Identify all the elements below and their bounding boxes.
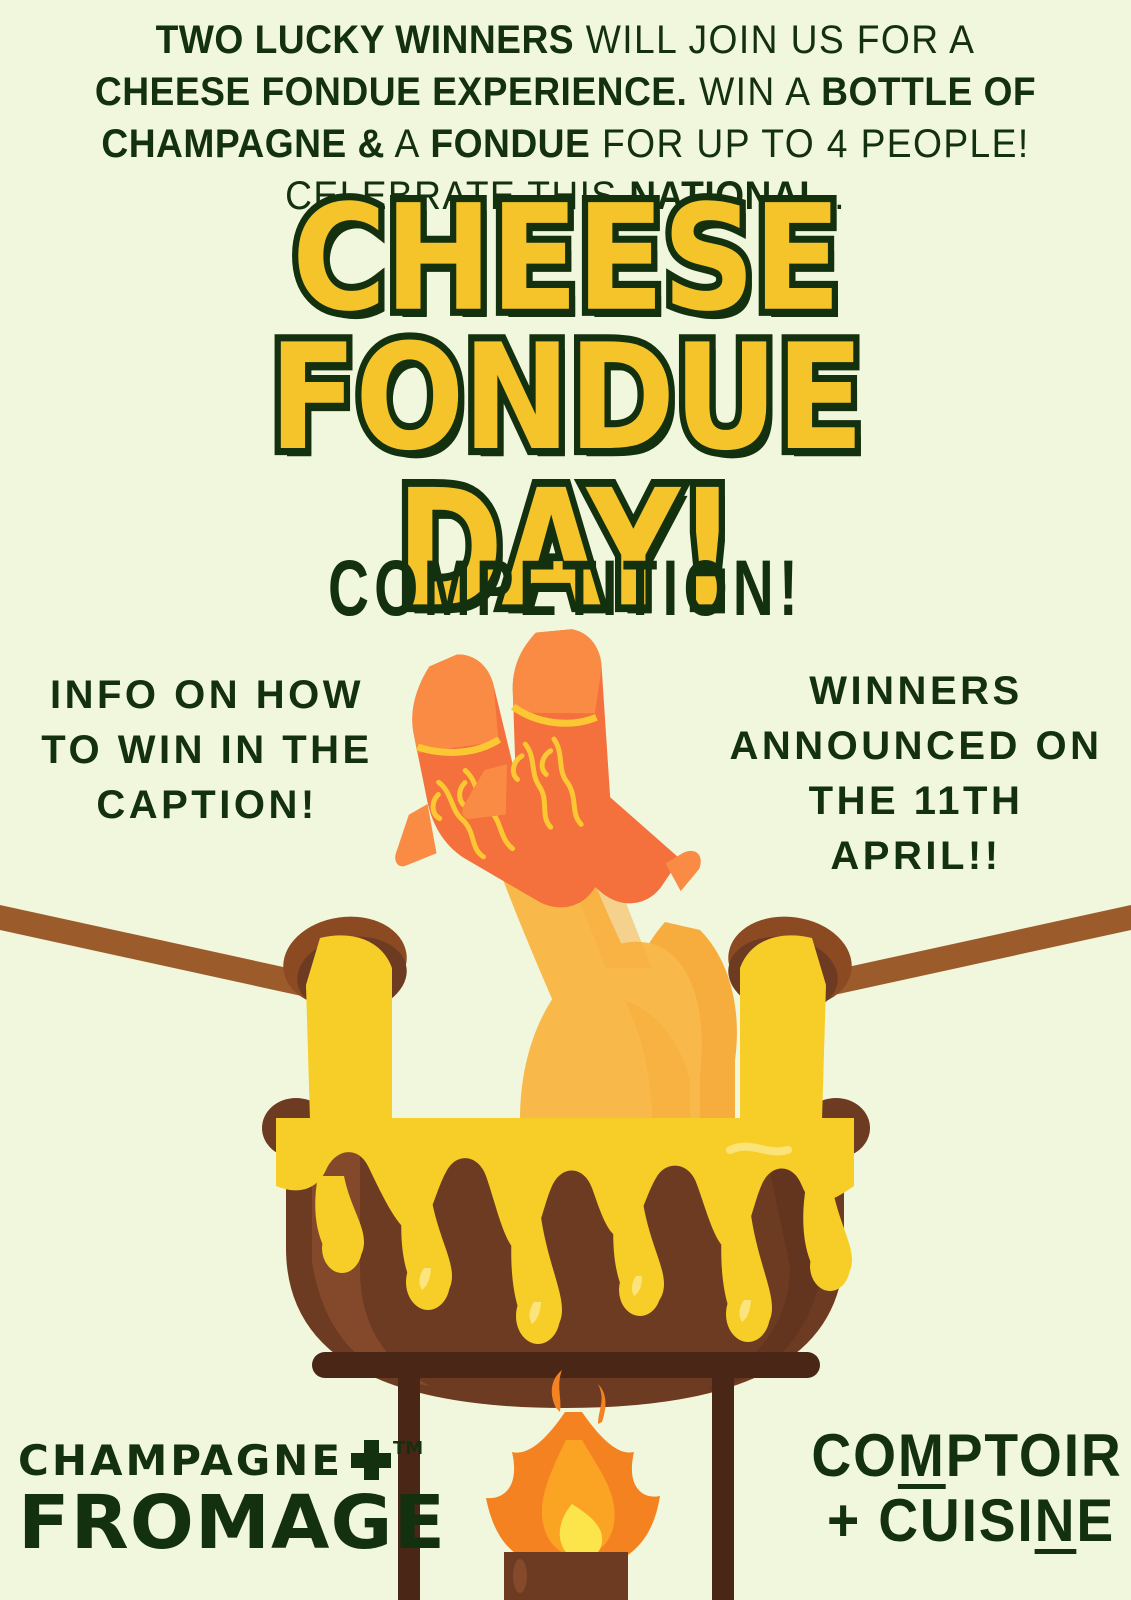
header-bold-1: TWO LUCKY WINNERS <box>156 18 574 62</box>
fuel-box <box>504 1552 628 1600</box>
subtitle-competition: COMPETITION! <box>79 542 1052 633</box>
logo-text-fromage: FROMAGE <box>18 1488 416 1558</box>
logo-line-champagne: CHAMPAGNE TM <box>18 1440 408 1482</box>
comptoir-cuisine-logo: COMPTOIR + CUISINE <box>785 1424 1115 1554</box>
header-bold-4: NATIONAL <box>629 174 822 218</box>
fondue-fork-right <box>811 905 1131 1000</box>
comptoir-part-b: PTOIR <box>946 1422 1123 1489</box>
cuisine-part-b: E <box>1076 1487 1115 1554</box>
header-text-3: A <box>385 122 431 166</box>
logo-line-comptoir: COMPTOIR <box>811 1424 1115 1489</box>
cowboy-boots <box>368 620 723 930</box>
logo-text-champagne: CHAMPAGNE <box>18 1440 343 1482</box>
logo-line-cuisine: + CUISINE <box>811 1489 1115 1554</box>
header-text-1: WILL JOIN US FOR A <box>574 18 975 62</box>
cuisine-underlined-n: N <box>1035 1487 1077 1554</box>
header-bold-3b: FONDUE <box>430 122 590 166</box>
fondue-fork-left <box>0 905 320 1000</box>
winners-announcement-text: WINNERS ANNOUNCED ON THE 11TH APRIL!! <box>721 664 1111 884</box>
header-bold-2b: BOTTLE OF <box>821 70 1036 114</box>
header-text-4: CELEBRATE THIS <box>285 174 629 218</box>
header-text-4b: .. <box>822 174 845 218</box>
header-paragraph: TWO LUCKY WINNERS WILL JOIN US FOR A CHE… <box>67 14 1063 222</box>
plus-cross-icon <box>351 1440 391 1480</box>
header-bold-3: CHAMPAGNE & <box>101 122 384 166</box>
header-text-2: WIN A <box>687 70 821 114</box>
comptoir-underlined-m: M <box>898 1422 946 1489</box>
header-bold-2: CHEESE FONDUE EXPERIENCE. <box>95 70 687 114</box>
cuisine-part-a: + CUISI <box>827 1487 1035 1554</box>
poster-canvas: TWO LUCKY WINNERS WILL JOIN US FOR A CHE… <box>0 0 1131 1600</box>
trademark-symbol: TM <box>393 1440 423 1458</box>
comptoir-part-a: CO <box>811 1422 897 1489</box>
header-text-3b: FOR UP TO 4 PEOPLE! <box>590 122 1029 166</box>
champagne-fromage-logo: CHAMPAGNE TM FROMAGE <box>18 1440 408 1558</box>
info-caption-text: INFO ON HOW TO WIN IN THE CAPTION! <box>22 668 392 833</box>
